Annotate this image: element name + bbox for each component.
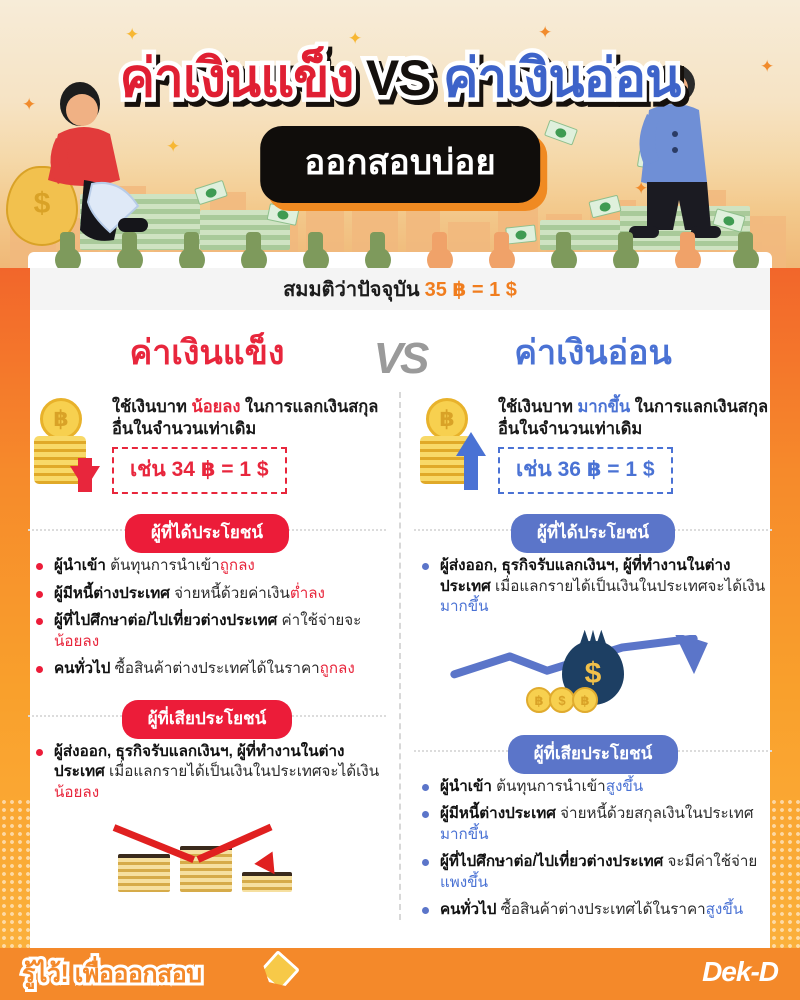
strong-benefit-list: ผู้นำเข้า ต้นทุนการนำเข้าถูกลง ผู้มีหนี้…	[22, 556, 392, 680]
weak-benefit-list: ผู้ส่งออก, ธุรกิจรับแลกเงินฯ, ผู้ที่ทำงา…	[408, 556, 778, 618]
strong-benefit-badge-wrap: ผู้ที่ได้ประโยชน์	[22, 514, 392, 544]
weak-loss-list: ผู้นำเข้า ต้นทุนการนำเข้าสูงขึ้น ผู้มีหน…	[408, 777, 778, 921]
item-text: ต้นทุนการนำเข้า	[106, 557, 220, 574]
item-text: ซื้อสินค้าต่างประเทศได้ในราคา	[110, 660, 319, 677]
item-text: เมื่อแลกรายได้เป็นเงินในประเทศจะได้เงิน	[491, 578, 765, 595]
strong-example-box: เช่น 34 ฿ = 1 $	[112, 447, 287, 494]
footer-bar: รู้ไว้! เพื่อออกสอบ Dek-D	[0, 948, 800, 1000]
item-text: ค่าใช้จ่ายจะ	[277, 612, 361, 629]
coin-stack-down-arrow-icon	[28, 396, 100, 492]
item-highlight: มากขึ้น	[440, 826, 489, 843]
title-weak-currency: ค่าเงินอ่อน	[443, 36, 680, 120]
title-strong-currency: ค่าเงินแข็ง	[120, 36, 354, 120]
list-item: ผู้มีหนี้ต่างประเทศ จ่ายหนี้ด้วยค่าเงินต…	[36, 584, 384, 605]
infographic-page: ✦ ✦ ✦ ✦ ✦ ✦ ✦ ✦ ค่าเงินแข็ง VS ค่าเงินอ่…	[0, 0, 800, 1000]
item-highlight: ถูกลง	[320, 660, 355, 677]
item-bold: คนทั่วไป	[54, 660, 110, 677]
weak-desc-pre: ใช้เงินบาท	[498, 398, 577, 416]
item-text: ต้นทุนการนำเข้า	[492, 778, 606, 795]
strong-loss-badge: ผู้ที่เสียประโยชน์	[122, 700, 293, 739]
vs-divider-label: VS	[374, 334, 427, 384]
item-highlight: น้อยลง	[54, 633, 99, 650]
weak-description-block: ใช้เงินบาท มากขึ้น ในการแลกเงินสกุลอื่นใ…	[408, 396, 778, 494]
item-bold: ผู้มีหนี้ต่างประเทศ	[440, 805, 556, 822]
subtitle-pill: ออกสอบบ่อย	[260, 126, 540, 203]
coin-stack-up-arrow-icon	[414, 396, 486, 492]
item-bold: ผู้นำเข้า	[440, 778, 492, 795]
strong-desc-pre: ใช้เงินบาท	[112, 398, 191, 416]
item-highlight: น้อยลง	[54, 784, 99, 801]
assumed-rate-line: สมมติว่าปัจจุบัน 35 ฿ = 1 $	[0, 268, 800, 310]
item-text: เมื่อแลกรายได้เป็นเงินในประเทศจะได้เงิน	[105, 763, 379, 780]
item-highlight: สูงขึ้น	[606, 778, 643, 795]
brand-logo: Dek-D	[702, 956, 778, 988]
main-title: ค่าเงินแข็ง VS ค่าเงินอ่อน	[0, 36, 800, 120]
strong-description-block: ใช้เงินบาท น้อยลง ในการแลกเงินสกุลอื่นใน…	[22, 396, 392, 494]
title-vs: VS	[366, 49, 431, 107]
item-bold: ผู้นำเข้า	[54, 557, 106, 574]
item-text: จ่ายหนี้ด้วยสกุลเงินในประเทศ	[556, 805, 754, 822]
item-bold: ผู้ที่ไปศึกษาต่อ/ไปเที่ยวต่างประเทศ	[440, 853, 663, 870]
strong-loss-badge-wrap: ผู้ที่เสียประโยชน์	[22, 700, 392, 730]
list-item: ผู้นำเข้า ต้นทุนการนำเข้าสูงขึ้น	[422, 777, 770, 798]
column-heading-strong: ค่าเงินแข็ง	[22, 336, 392, 388]
list-item: ผู้ส่งออก, ธุรกิจรับแลกเงินฯ, ผู้ที่ทำงา…	[422, 556, 770, 618]
coins-declining-red-arrow-icon	[22, 810, 392, 896]
weak-loss-badge: ผู้ที่เสียประโยชน์	[508, 735, 679, 774]
weak-benefit-badge-wrap: ผู้ที่ได้ประโยชน์	[408, 514, 778, 544]
strong-benefit-badge: ผู้ที่ได้ประโยชน์	[125, 514, 289, 553]
column-strong-currency: ค่าเงินแข็ง ใช้เงินบาท น้อยลง ในการแลกเง…	[22, 336, 392, 896]
list-item: คนทั่วไป ซื้อสินค้าต่างประเทศได้ในราคาถู…	[36, 659, 384, 680]
item-highlight: แพงขึ้น	[440, 874, 488, 891]
money-bag-rising-arrow-icon: ฿ $ ฿	[408, 625, 778, 715]
item-text: จะมีค่าใช้จ่าย	[663, 853, 757, 870]
list-item: ผู้นำเข้า ต้นทุนการนำเข้าถูกลง	[36, 556, 384, 577]
rate-value: 35 ฿ = 1 $	[425, 277, 517, 302]
list-item: ผู้ที่ไปศึกษาต่อ/ไปเที่ยวต่างประเทศ จะมี…	[422, 852, 770, 893]
item-text: ซื้อสินค้าต่างประเทศได้ในราคา	[496, 901, 705, 918]
weak-loss-badge-wrap: ผู้ที่เสียประโยชน์	[408, 735, 778, 765]
item-text: จ่ายหนี้ด้วยค่าเงิน	[170, 585, 290, 602]
item-bold: ผู้มีหนี้ต่างประเทศ	[54, 585, 170, 602]
column-heading-weak: ค่าเงินอ่อน	[408, 336, 778, 388]
strong-loss-list: ผู้ส่งออก, ธุรกิจรับแลกเงินฯ, ผู้ที่ทำงา…	[22, 742, 392, 804]
weak-desc-highlight: มากขึ้น	[577, 398, 630, 416]
item-highlight: มากขึ้น	[440, 598, 489, 615]
item-highlight: ถูกลง	[220, 557, 255, 574]
list-item: คนทั่วไป ซื้อสินค้าต่างประเทศได้ในราคาสู…	[422, 900, 770, 921]
item-highlight: ต่ำลง	[290, 585, 325, 602]
item-bold: คนทั่วไป	[440, 901, 496, 918]
weak-example-box: เช่น 36 ฿ = 1 $	[498, 447, 673, 494]
weak-benefit-badge: ผู้ที่ได้ประโยชน์	[511, 514, 675, 553]
footer-tagline: รู้ไว้! เพื่อออกสอบ	[22, 954, 202, 994]
strong-desc-highlight: น้อยลง	[191, 398, 240, 416]
item-highlight: สูงขึ้น	[706, 901, 743, 918]
header-banner: ✦ ✦ ✦ ✦ ✦ ✦ ✦ ✦ ค่าเงินแข็ง VS ค่าเงินอ่…	[0, 0, 800, 268]
pencil-icon	[258, 950, 300, 992]
rate-prefix: สมมติว่าปัจจุบัน	[283, 273, 420, 305]
list-item: ผู้ส่งออก, ธุรกิจรับแลกเงินฯ, ผู้ที่ทำงา…	[36, 742, 384, 804]
list-item: ผู้มีหนี้ต่างประเทศ จ่ายหนี้ด้วยสกุลเงิน…	[422, 804, 770, 845]
gold-coin-icon: ฿	[572, 687, 598, 713]
list-item: ผู้ที่ไปศึกษาต่อ/ไปเที่ยวต่างประเทศ ค่าใ…	[36, 611, 384, 652]
column-weak-currency: ค่าเงินอ่อน ใช้เงินบาท มากขึ้น ในการแลกเ…	[408, 336, 778, 928]
column-divider	[399, 392, 401, 920]
item-bold: ผู้ที่ไปศึกษาต่อ/ไปเที่ยวต่างประเทศ	[54, 612, 277, 629]
